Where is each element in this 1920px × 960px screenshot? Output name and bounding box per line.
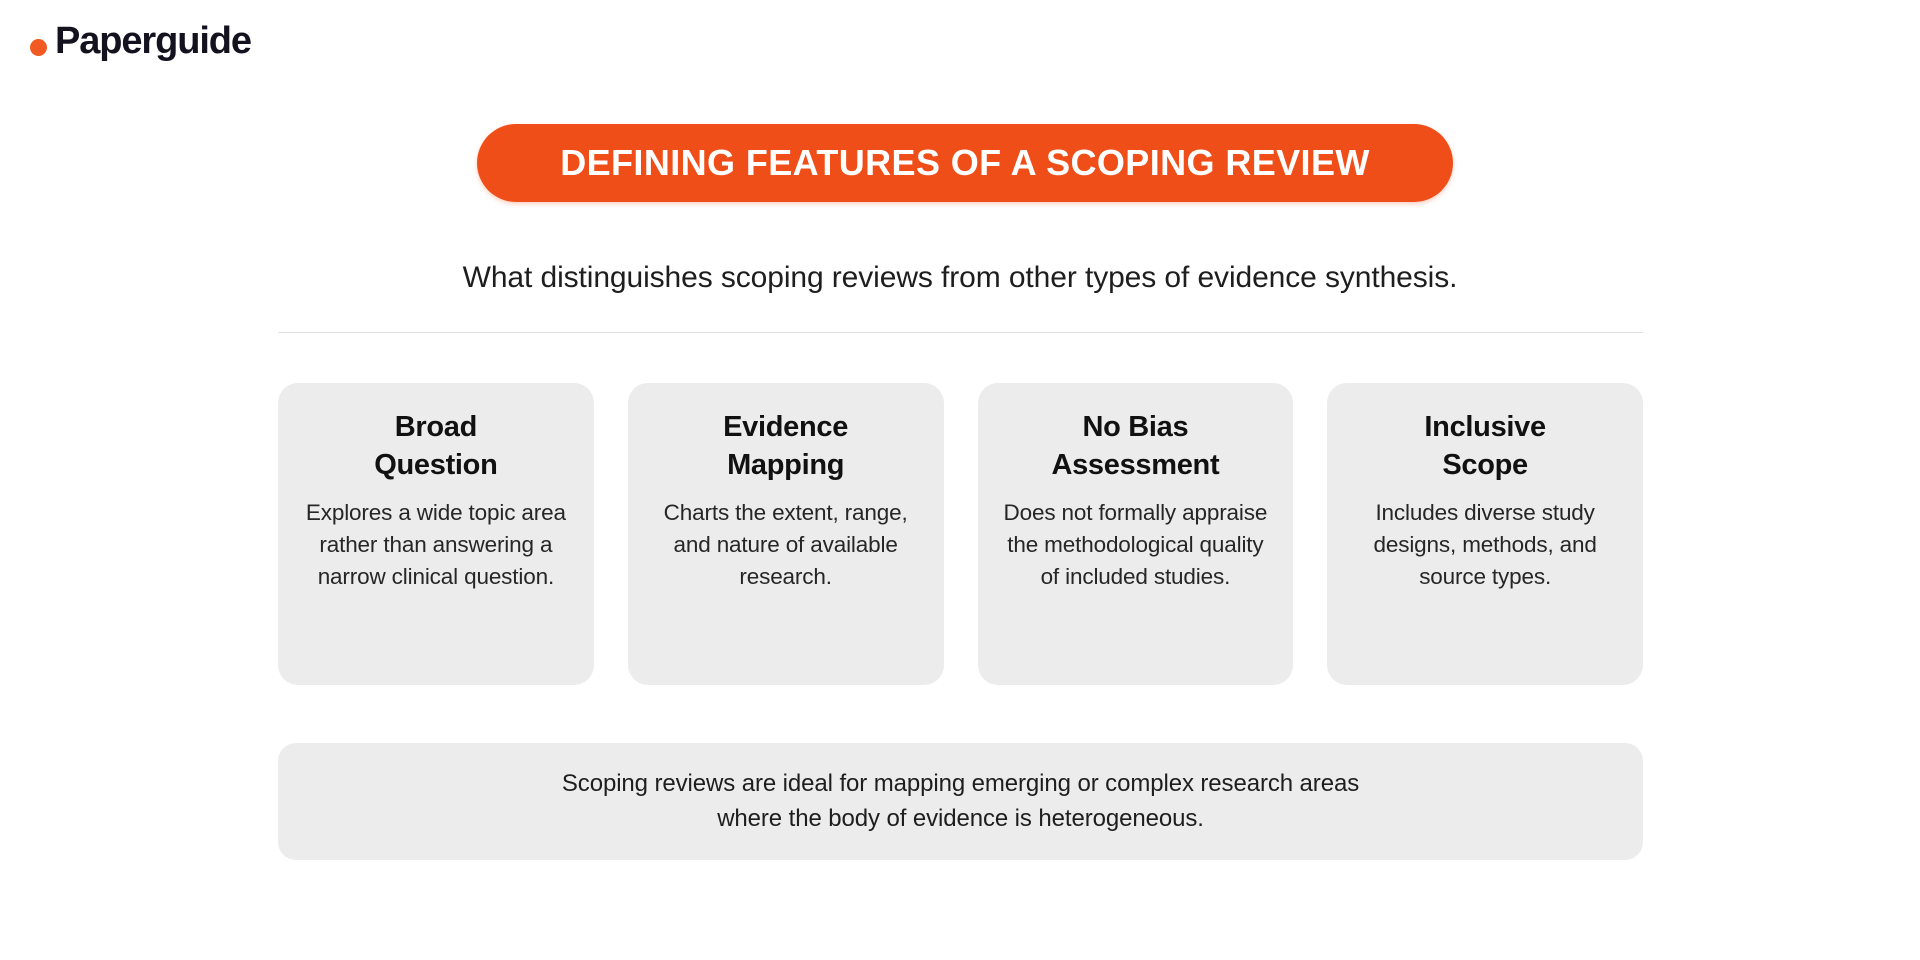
divider (278, 332, 1643, 333)
footnote-text: Scoping reviews are ideal for mapping em… (562, 767, 1359, 836)
feature-card-evidence-mapping: Evidence Mapping Charts the extent, rang… (628, 383, 944, 685)
feature-card-broad-question: Broad Question Explores a wide topic are… (278, 383, 594, 685)
banner-title: DEFINING FEATURES OF A SCOPING REVIEW (560, 142, 1370, 184)
card-body: Explores a wide topic area rather than a… (302, 497, 570, 593)
card-title: Inclusive Scope (1380, 409, 1590, 484)
feature-card-no-bias-assessment: No Bias Assessment Does not formally app… (978, 383, 1294, 685)
card-title: No Bias Assessment (1030, 409, 1240, 484)
title-banner: DEFINING FEATURES OF A SCOPING REVIEW (477, 124, 1453, 202)
card-body: Includes diverse study designs, methods,… (1351, 497, 1619, 593)
footnote-panel: Scoping reviews are ideal for mapping em… (278, 743, 1643, 860)
brand-name: Paperguide (55, 22, 251, 60)
feature-card-inclusive-scope: Inclusive Scope Includes diverse study d… (1327, 383, 1643, 685)
subtitle: What distinguishes scoping reviews from … (0, 261, 1920, 295)
card-title: Evidence Mapping (681, 409, 891, 484)
infographic-page: Paperguide DEFINING FEATURES OF A SCOPIN… (0, 0, 1920, 960)
feature-card-row: Broad Question Explores a wide topic are… (278, 383, 1643, 685)
card-body: Charts the extent, range, and nature of … (652, 497, 920, 593)
card-body: Does not formally appraise the methodolo… (1001, 497, 1269, 593)
brand-logo[interactable]: Paperguide (30, 22, 251, 60)
brand-dot-icon (30, 39, 47, 56)
card-title: Broad Question (331, 409, 541, 484)
